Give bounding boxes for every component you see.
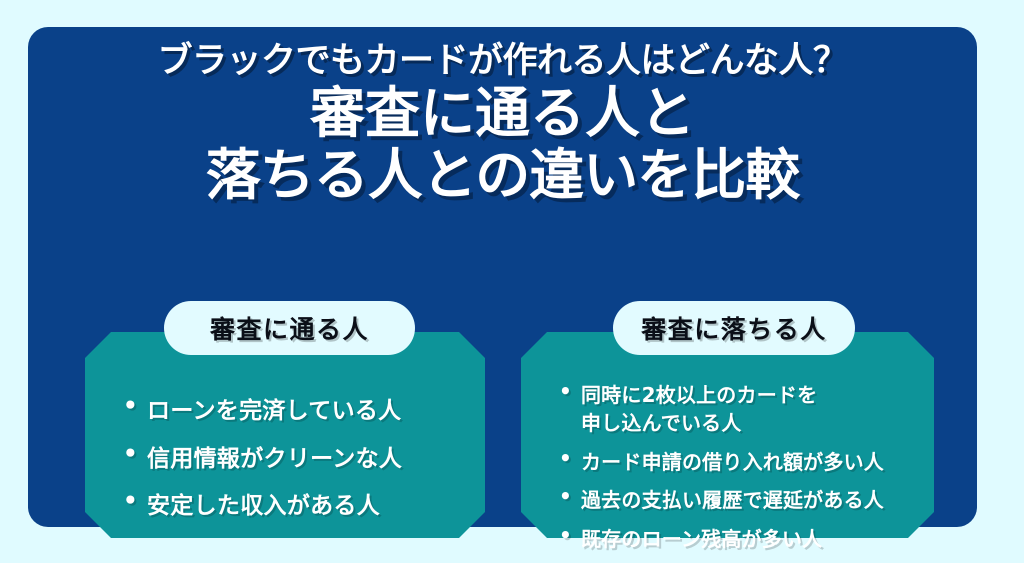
main-card: ブラックでもカードが作れる人はどんな人？ 審査に通る人と 落ちる人との違いを比較… [28,27,977,527]
comparison-columns: 審査に通る人 • ローンを完済している人 • 信用情報がクリーンな人 • 安定し… [28,301,977,551]
bullet-dot-icon: • [559,525,572,545]
bullet-dot-icon: • [559,381,572,401]
bullet-text: 信用情報がクリーンな人 [147,443,402,476]
bullet-list-pass: • ローンを完済している人 • 信用情報がクリーンな人 • 安定した収入がある人 [123,395,473,538]
title-line-1: 審査に通る人と [28,82,977,145]
title-line-2: 落ちる人との違いを比較 [28,144,977,207]
list-item: • 信用情報がクリーンな人 [123,443,473,476]
list-item: • 安定した収入がある人 [123,490,473,523]
bullet-dot-icon: • [559,486,572,506]
bullet-text: 安定した収入がある人 [147,490,380,523]
bullet-text-line-2: 申し込んでいる人 [581,409,817,437]
pill-pass: 審査に通る人 [164,301,415,355]
bullet-dot-icon: • [123,395,138,418]
bullet-dot-icon: • [123,490,138,513]
bullet-dot-icon: • [559,448,572,468]
bullet-text: ローンを完済している人 [147,395,401,428]
list-item: • ローンを完済している人 [123,395,473,428]
bullet-text: カード申請の借り入れ額が多い人 [581,448,884,476]
bullet-list-fail: • 同時に2枚以上のカードを 申し込んでいる人 • カード申請の借り入れ額が多い… [559,381,939,563]
list-item: • 既存のローン残高が多い人 [559,525,939,553]
bullet-text: 既存のローン残高が多い人 [581,525,822,553]
list-item: • カード申請の借り入れ額が多い人 [559,448,939,476]
bullet-text-line-1: 同時に2枚以上のカードを [581,383,817,407]
bullet-text: 過去の支払い履歴で遅延がある人 [581,486,884,514]
pill-fail: 審査に落ちる人 [613,301,855,355]
list-item: • 同時に2枚以上のカードを 申し込んでいる人 [559,381,939,438]
kicker-text: ブラックでもカードが作れる人はどんな人？ [28,41,977,82]
list-item: • 過去の支払い履歴で遅延がある人 [559,486,939,514]
headline-block: ブラックでもカードが作れる人はどんな人？ 審査に通る人と 落ちる人との違いを比較 [28,41,977,207]
bullet-text: 同時に2枚以上のカードを 申し込んでいる人 [581,381,817,438]
pill-label-fail: 審査に落ちる人 [641,310,827,346]
infographic-canvas: ブラックでもカードが作れる人はどんな人？ 審査に通る人と 落ちる人との違いを比較… [0,0,1024,555]
pill-label-pass: 審査に通る人 [210,310,369,346]
bullet-dot-icon: • [123,443,138,466]
